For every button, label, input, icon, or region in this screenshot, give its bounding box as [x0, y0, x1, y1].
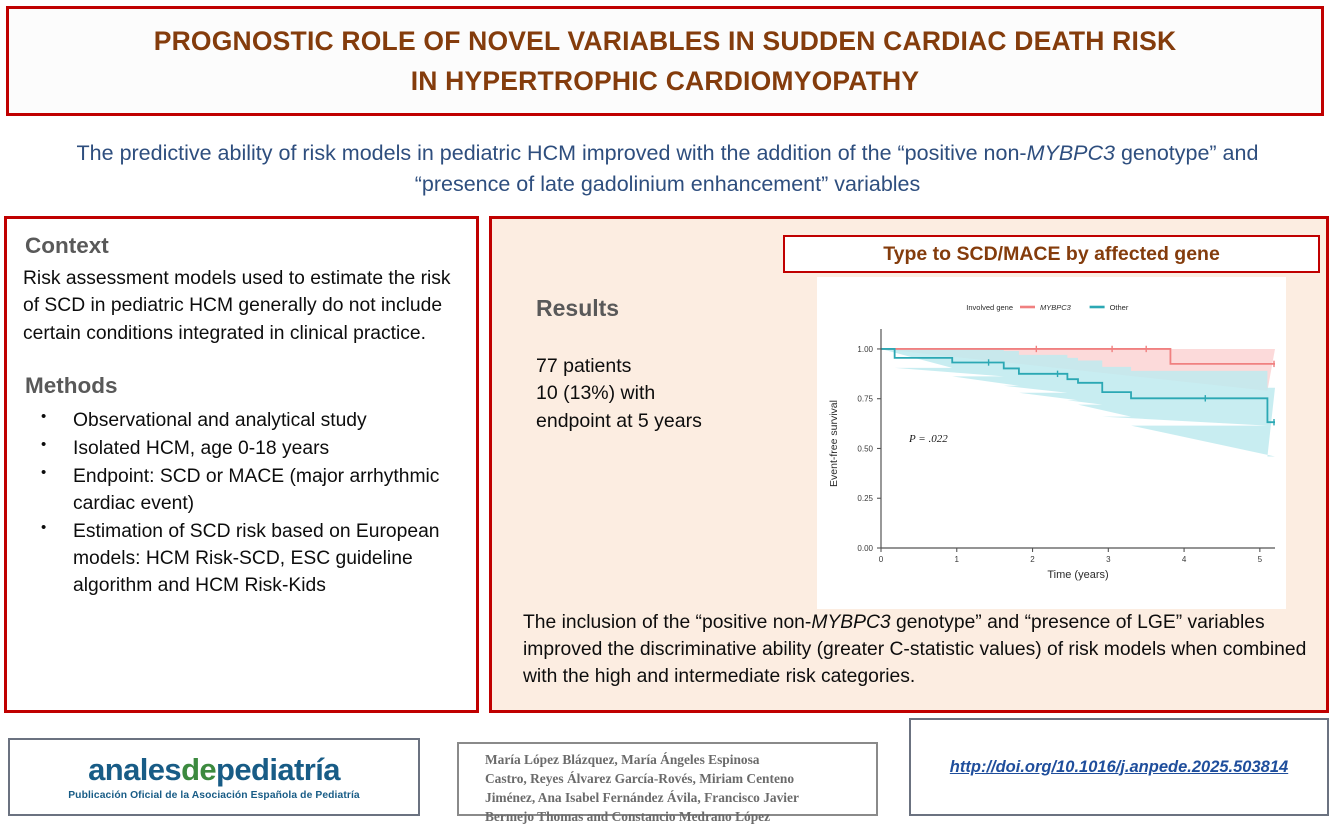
conclusion-gene-name: MYBPC3: [811, 612, 890, 633]
legend-label: Other: [1110, 303, 1129, 312]
authors-line-3: Jiménez, Ana Isabel Fernández Ávila, Fra…: [485, 788, 876, 807]
methods-heading: Methods: [25, 373, 460, 399]
list-item: Endpoint: SCD or MACE (major arrhythmic …: [23, 463, 460, 517]
x-axis-tick-label: 1: [955, 555, 960, 564]
y-axis-tick-label: 0.25: [857, 494, 873, 503]
legend-label: MYBPC3: [1040, 303, 1072, 312]
x-axis-tick-label: 3: [1106, 555, 1111, 564]
results-panel: Results 77 patients 10 (13%) with endpoi…: [489, 216, 1329, 713]
logo-word-de: de: [181, 752, 216, 787]
methods-bullet-list: Observational and analytical study Isola…: [23, 407, 460, 599]
legend-title: Involved gene: [966, 303, 1013, 312]
authors-line-1: María López Blázquez, María Ángeles Espi…: [485, 750, 876, 769]
logo-wordmark: analesdepediatría: [88, 754, 340, 785]
logo-subtitle: Publicación Oficial de la Asociación Esp…: [68, 790, 360, 801]
chart-title-box: Type to SCD/MACE by affected gene: [783, 235, 1320, 273]
subtitle: The predictive ability of risk models in…: [60, 138, 1275, 200]
x-axis-tick-label: 0: [879, 555, 884, 564]
doi-link[interactable]: http://doi.org/10.1016/j.anpede.2025.503…: [950, 758, 1288, 777]
logo-word-pediatria: pediatría: [216, 752, 340, 787]
survival-chart: Involved geneMYBPC3Other0.000.250.500.75…: [817, 277, 1286, 609]
context-methods-panel: Context Risk assessment models used to e…: [4, 216, 479, 713]
authors-line-4: Bermejo Thomas and Constancio Medrano Ló…: [485, 807, 876, 826]
doi-box: http://doi.org/10.1016/j.anpede.2025.503…: [909, 718, 1329, 816]
subtitle-part-1: The predictive ability of risk models in…: [77, 141, 1027, 165]
y-axis-tick-label: 0.50: [857, 444, 873, 453]
authors-box: María López Blázquez, María Ángeles Espi…: [457, 742, 878, 816]
y-axis-label: Event-free survival: [828, 400, 840, 487]
list-item: Isolated HCM, age 0-18 years: [23, 435, 460, 462]
x-axis-tick-label: 4: [1182, 555, 1187, 564]
chart-title: Type to SCD/MACE by affected gene: [883, 243, 1220, 266]
y-axis-tick-label: 1.00: [857, 345, 873, 354]
results-line-2: 10 (13%) with: [536, 380, 702, 407]
y-axis-tick-label: 0.75: [857, 395, 873, 404]
page-title-line-2: IN HYPERTROPHIC CARDIOMYOPATHY: [411, 61, 920, 101]
list-item: Observational and analytical study: [23, 407, 460, 434]
journal-logo: analesdepediatría Publicación Oficial de…: [8, 738, 420, 816]
authors-line-2: Castro, Reyes Álvarez García-Rovés, Miri…: [485, 769, 876, 788]
results-line-1: 77 patients: [536, 353, 702, 380]
kaplan-meier-plot: Involved geneMYBPC3Other0.000.250.500.75…: [817, 277, 1286, 609]
conclusion-text: The inclusion of the “positive non-MYBPC…: [523, 609, 1313, 690]
conclusion-part-1: The inclusion of the “positive non-: [523, 612, 811, 633]
x-axis-label: Time (years): [1047, 569, 1108, 581]
results-heading: Results: [536, 295, 619, 322]
subtitle-gene-name: MYBPC3: [1027, 141, 1115, 165]
page-title-line-1: PROGNOSTIC ROLE OF NOVEL VARIABLES IN SU…: [154, 21, 1177, 61]
x-axis-tick-label: 2: [1030, 555, 1035, 564]
logo-word-anales: anales: [88, 752, 181, 787]
context-heading: Context: [25, 233, 460, 259]
results-summary: 77 patients 10 (13%) with endpoint at 5 …: [536, 353, 702, 435]
title-banner: PROGNOSTIC ROLE OF NOVEL VARIABLES IN SU…: [6, 6, 1324, 116]
p-value-annotation: P = .022: [908, 433, 948, 445]
list-item: Estimation of SCD risk based on European…: [23, 518, 460, 599]
y-axis-tick-label: 0.00: [857, 544, 873, 553]
context-text: Risk assessment models used to estimate …: [23, 265, 460, 347]
x-axis-tick-label: 5: [1258, 555, 1263, 564]
results-line-3: endpoint at 5 years: [536, 408, 702, 435]
